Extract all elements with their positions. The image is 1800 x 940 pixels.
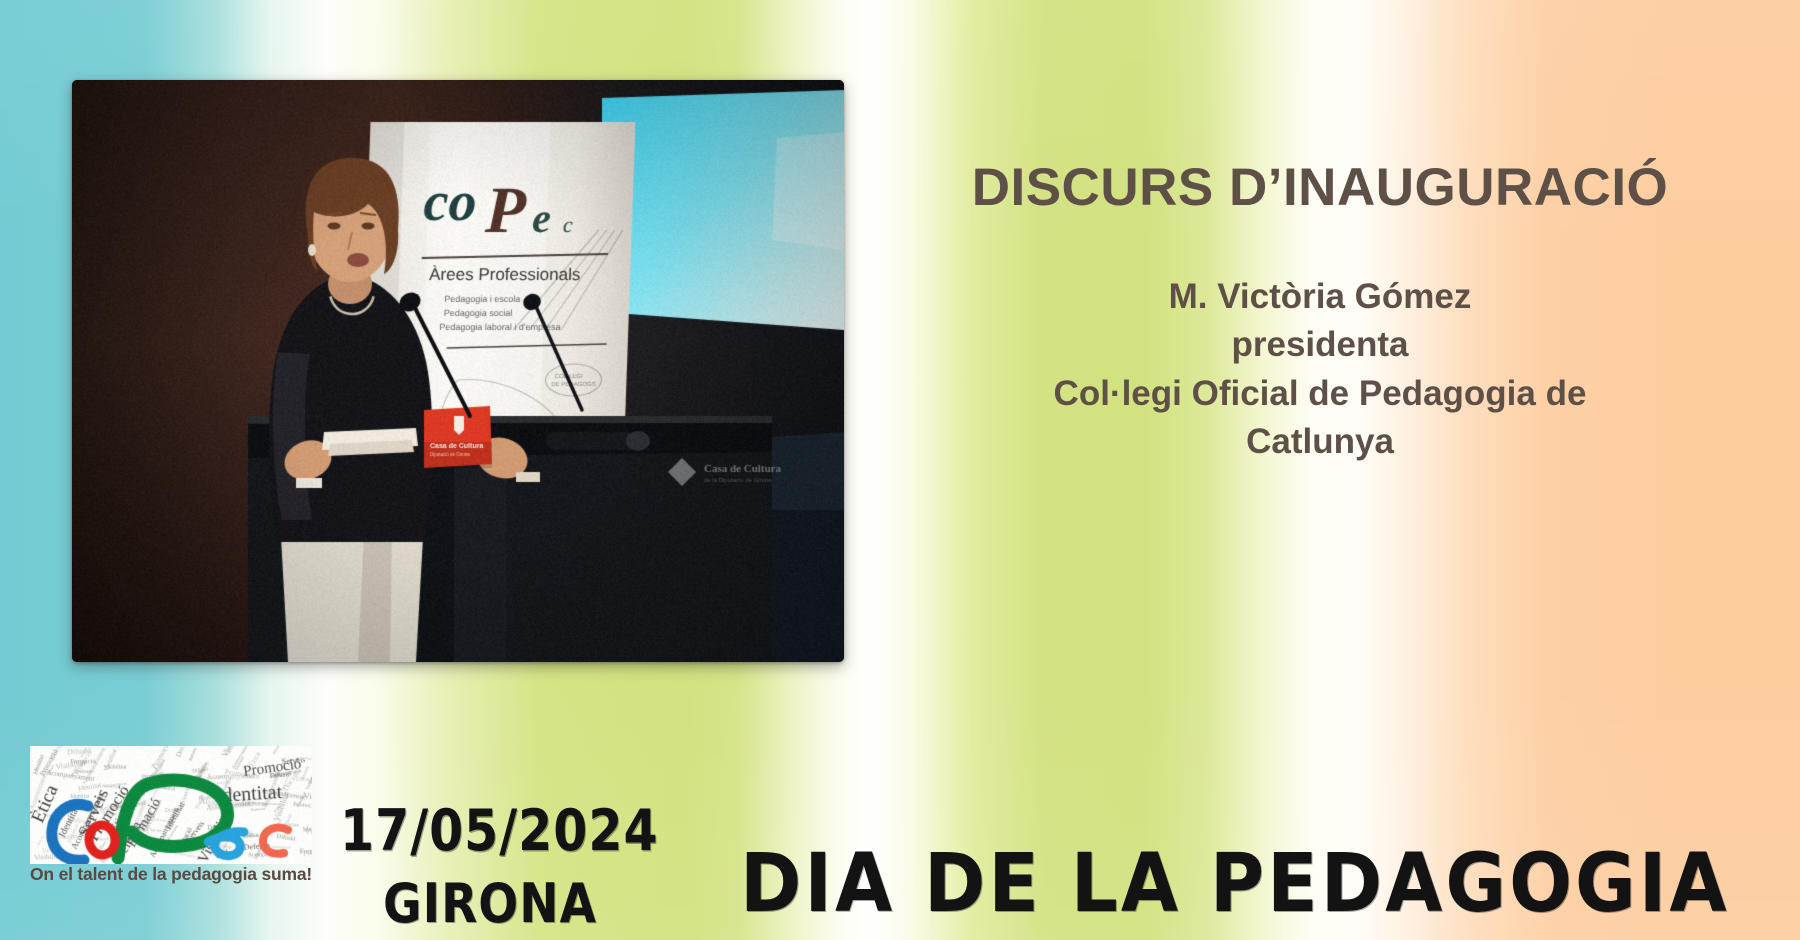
speaker-org-line-1: Col·legi Oficial de Pedagogia de: [890, 370, 1750, 418]
inauguration-speech-photo: [72, 80, 844, 662]
event-city: GIRONA: [340, 872, 640, 936]
speaker-org-line-2: Catlunya: [890, 418, 1750, 466]
event-title: DIA DE LA PEDAGOGIA: [740, 836, 1790, 931]
logo-tagline: On el talent de la pedagogia suma!: [30, 864, 312, 885]
speaker-name: M. Victòria Gómez: [890, 273, 1750, 321]
logo-canvas: [30, 746, 312, 864]
copec-logo: On el talent de la pedagogia suma!: [30, 746, 312, 876]
event-date: 17/05/2024: [340, 798, 640, 864]
photo-canvas: [72, 80, 844, 662]
speaker-details: M. Victòria Gómez presidenta Col·legi Of…: [890, 273, 1750, 466]
presentation-slide: DISCURS D’INAUGURACIÓ M. Victòria Gómez …: [0, 0, 1800, 940]
speaker-role: presidenta: [890, 321, 1750, 369]
logo-wordcloud: [30, 746, 312, 864]
page-title: DISCURS D’INAUGURACIÓ: [880, 160, 1760, 216]
